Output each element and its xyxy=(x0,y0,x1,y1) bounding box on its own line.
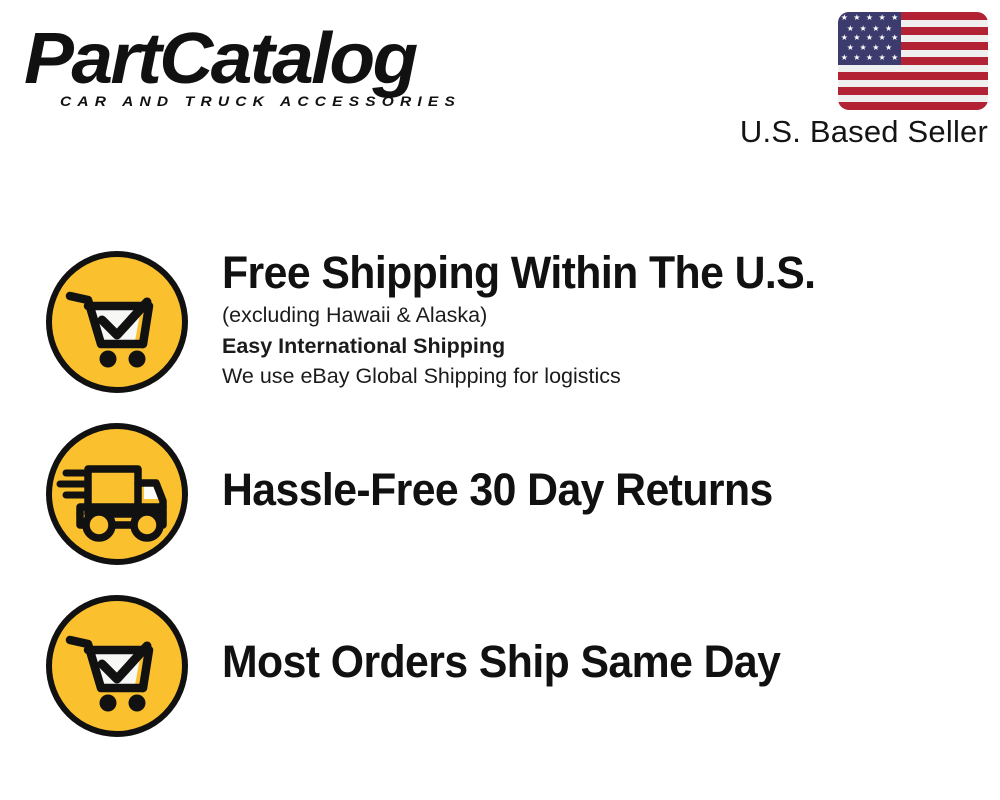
feature-text-block: Free Shipping Within The U.S. (excluding… xyxy=(222,249,982,392)
feature-subline: (excluding Hawaii & Alaska) xyxy=(222,300,982,331)
feature-heading: Most Orders Ship Same Day xyxy=(222,638,944,685)
feature-heading: Free Shipping Within The U.S. xyxy=(222,249,944,296)
shopping-cart-check-icon xyxy=(44,593,190,739)
feature-text-block: Most Orders Ship Same Day xyxy=(222,593,982,685)
feature-subline: We use eBay Global Shipping for logistic… xyxy=(222,361,982,392)
shopping-cart-check-icon xyxy=(44,249,190,395)
feature-heading: Hassle-Free 30 Day Returns xyxy=(222,466,944,513)
feature-subline: Easy International Shipping xyxy=(222,331,982,362)
feature-text-block: Hassle-Free 30 Day Returns xyxy=(222,421,982,513)
feature-list: Free Shipping Within The U.S. (excluding… xyxy=(0,0,1000,800)
delivery-truck-icon xyxy=(44,421,190,567)
